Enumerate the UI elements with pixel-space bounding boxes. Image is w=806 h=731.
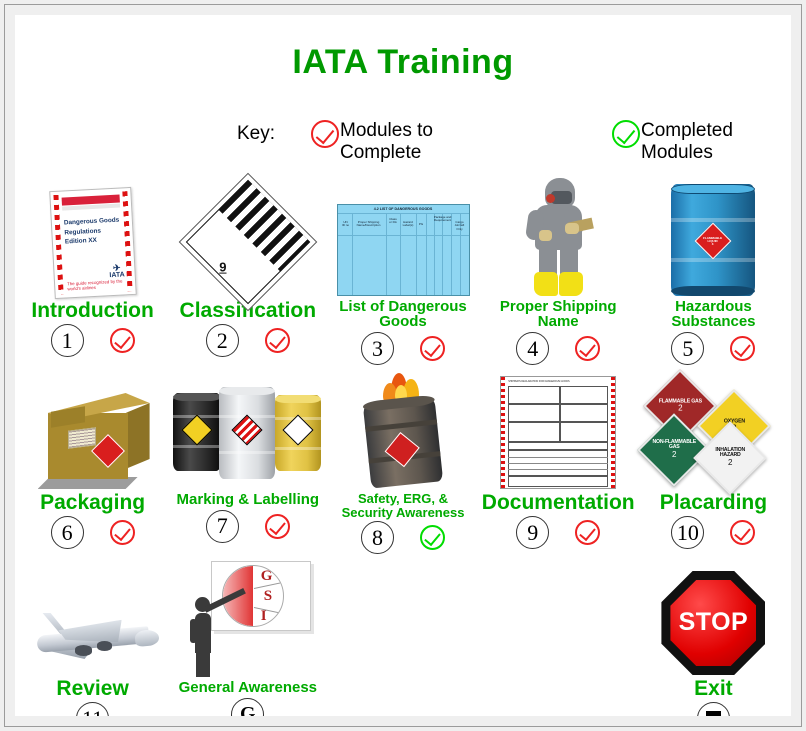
module-row-1: Dangerous Goods Regulations Edition XX ✈… <box>15 175 791 365</box>
book-footer: The guide recognized by the world's airl… <box>67 278 123 291</box>
check-circle-red-icon[interactable] <box>730 520 755 545</box>
shippers-declaration-icon: SHIPPER'S DECLARATION FOR DANGEROUS GOOD… <box>500 376 616 489</box>
airplane-icon <box>23 605 163 675</box>
module-classification[interactable]: 9 Classification 2 <box>170 175 325 365</box>
check-circle-red-icon <box>311 120 339 148</box>
page-title: IATA Training <box>15 43 791 82</box>
module-general-awareness[interactable]: G S I Gener <box>170 555 325 716</box>
check-circle-green-icon <box>612 120 640 148</box>
module-label: General Awareness <box>179 680 317 696</box>
dangerous-goods-table-icon: 4.2 LIST OF DANGEROUS GOODS UNID no Prop… <box>337 204 470 296</box>
module-art: Dangerous Goods Regulations Edition XX ✈… <box>15 175 170 297</box>
check-circle-red-icon[interactable] <box>575 520 600 545</box>
check-circle-red-icon[interactable] <box>265 514 290 539</box>
module-art: SHIPPER'S DECLARATION FOR DANGEROUS GOOD… <box>481 367 636 489</box>
module-art <box>15 555 170 675</box>
module-label: Packaging <box>40 492 145 514</box>
module-badges: 4 <box>516 332 600 365</box>
check-circle-red-icon[interactable] <box>730 336 755 361</box>
module-number[interactable]: 8 <box>361 521 394 554</box>
key-legend: Key: Modules to Complete Completed Modul… <box>15 115 791 171</box>
book-title: Dangerous Goods Regulations Edition XX <box>63 216 120 248</box>
module-badges: 10 <box>671 516 755 549</box>
module-badges: 11 <box>76 702 109 716</box>
key-item-completed: Completed Modules <box>612 120 733 164</box>
app-frame: IATA Training Key: Modules to Complete C… <box>4 4 802 727</box>
module-number[interactable]: 1 <box>51 324 84 357</box>
stop-text: STOP <box>661 571 765 675</box>
key-completed-label: Completed Modules <box>641 120 733 164</box>
module-packaging[interactable]: Packaging 6 <box>15 367 170 557</box>
module-row-3: Review 11 G S I <box>15 555 791 716</box>
module-label: Placarding <box>660 492 767 514</box>
check-circle-green-icon[interactable] <box>420 525 445 550</box>
table-header: 4.2 LIST OF DANGEROUS GOODS <box>338 207 469 211</box>
spacer-cell <box>481 555 636 716</box>
burning-drum-icon <box>355 371 451 489</box>
iata-logo-icon: ✈ IATA <box>108 264 124 279</box>
module-badges: 8 <box>361 521 445 554</box>
module-badges: 5 <box>671 332 755 365</box>
module-badges: 2 <box>206 324 290 357</box>
module-exit[interactable]: STOP Exit <box>636 555 791 716</box>
module-badges: 9 <box>516 516 600 549</box>
gsi-presenter-icon: G S I <box>183 561 313 677</box>
module-label: Introduction <box>31 300 153 322</box>
slide-canvas: IATA Training Key: Modules to Complete C… <box>15 15 791 716</box>
module-label: Proper Shipping Name <box>481 299 636 331</box>
module-number[interactable]: 11 <box>76 702 109 716</box>
module-art: FLAMMABLE GAS2 OXYGEN2 NON-FLAMMABLE GAS… <box>636 367 791 489</box>
check-circle-red-icon[interactable] <box>265 328 290 353</box>
key-label: Key: <box>237 123 275 145</box>
module-art <box>325 367 480 489</box>
check-circle-red-icon[interactable] <box>110 520 135 545</box>
form-title: SHIPPER'S DECLARATION FOR DANGEROUS GOOD… <box>508 380 608 383</box>
module-label: Safety, ERG, & Security Awareness <box>342 492 465 519</box>
module-marking-labelling[interactable]: Marking & Labelling 7 <box>170 367 325 557</box>
placards-cluster-icon: FLAMMABLE GAS2 OXYGEN2 NON-FLAMMABLE GAS… <box>646 374 781 489</box>
module-number[interactable]: 5 <box>671 332 704 365</box>
module-number[interactable]: 4 <box>516 332 549 365</box>
module-label: Review <box>56 678 128 700</box>
flammable-liquid-label-icon: FLAMMABLE LIQUID3 <box>695 222 732 259</box>
module-art <box>481 175 636 296</box>
module-art: STOP <box>636 555 791 675</box>
module-introduction[interactable]: Dangerous Goods Regulations Edition XX ✈… <box>15 175 170 365</box>
module-documentation[interactable]: SHIPPER'S DECLARATION FOR DANGEROUS GOOD… <box>481 367 636 557</box>
module-placarding[interactable]: FLAMMABLE GAS2 OXYGEN2 NON-FLAMMABLE GAS… <box>636 367 791 557</box>
module-badges: 3 <box>361 332 445 365</box>
blue-drum-icon: FLAMMABLE LIQUID3 <box>671 184 755 296</box>
module-row-2: Packaging 6 <box>15 367 791 557</box>
hazmat-worker-icon <box>521 178 595 296</box>
class-number: 9 <box>175 260 271 275</box>
module-art: FLAMMABLE LIQUID3 <box>636 175 791 296</box>
module-number[interactable]: 7 <box>206 510 239 543</box>
exit-stop-button[interactable] <box>697 702 730 716</box>
module-label: Documentation <box>482 492 635 514</box>
dgr-book-icon: Dangerous Goods Regulations Edition XX ✈… <box>49 187 137 299</box>
module-label: List of Dangerous Goods <box>339 299 467 331</box>
presenter-figure <box>185 591 239 677</box>
module-badges: 7 <box>206 510 290 543</box>
module-hazardous-substances[interactable]: FLAMMABLE LIQUID3 Hazardous Substances 5 <box>636 175 791 365</box>
module-badges <box>697 702 730 716</box>
module-list-dangerous-goods[interactable]: 4.2 LIST OF DANGEROUS GOODS UNID no Prop… <box>325 175 480 365</box>
module-review[interactable]: Review 11 <box>15 555 170 716</box>
module-badges: 6 <box>51 516 135 549</box>
module-number[interactable]: 9 <box>516 516 549 549</box>
module-art: 9 <box>170 175 325 297</box>
key-to-complete-label: Modules to Complete <box>340 120 433 164</box>
module-label: Marking & Labelling <box>177 492 320 508</box>
stop-sign-icon: STOP <box>661 571 765 675</box>
module-number[interactable]: 3 <box>361 332 394 365</box>
spacer-cell <box>325 555 480 716</box>
three-drums-icon <box>173 385 323 489</box>
module-safety-erg-security[interactable]: Safety, ERG, & Security Awareness 8 <box>325 367 480 557</box>
module-number[interactable]: G <box>231 698 264 716</box>
check-circle-red-icon[interactable] <box>575 336 600 361</box>
module-proper-shipping-name[interactable]: Proper Shipping Name 4 <box>481 175 636 365</box>
module-art: G S I <box>170 555 325 677</box>
key-item-to-complete: Modules to Complete <box>311 120 433 164</box>
module-art: 4.2 LIST OF DANGEROUS GOODS UNID no Prop… <box>325 175 480 296</box>
module-art <box>170 367 325 489</box>
module-number[interactable]: 2 <box>206 324 239 357</box>
check-circle-red-icon[interactable] <box>110 328 135 353</box>
module-label: Exit <box>694 678 733 700</box>
module-label: Hazardous Substances <box>636 299 791 331</box>
module-number[interactable]: 6 <box>51 516 84 549</box>
class-9-diamond-icon: 9 <box>179 173 318 312</box>
carton-box-icon <box>34 389 152 489</box>
module-badges: G <box>231 698 264 716</box>
module-badges: 1 <box>51 324 135 357</box>
module-number[interactable]: 10 <box>671 516 704 549</box>
module-art <box>15 367 170 489</box>
check-circle-red-icon[interactable] <box>420 336 445 361</box>
flammable-liquid-label-icon <box>385 432 420 467</box>
